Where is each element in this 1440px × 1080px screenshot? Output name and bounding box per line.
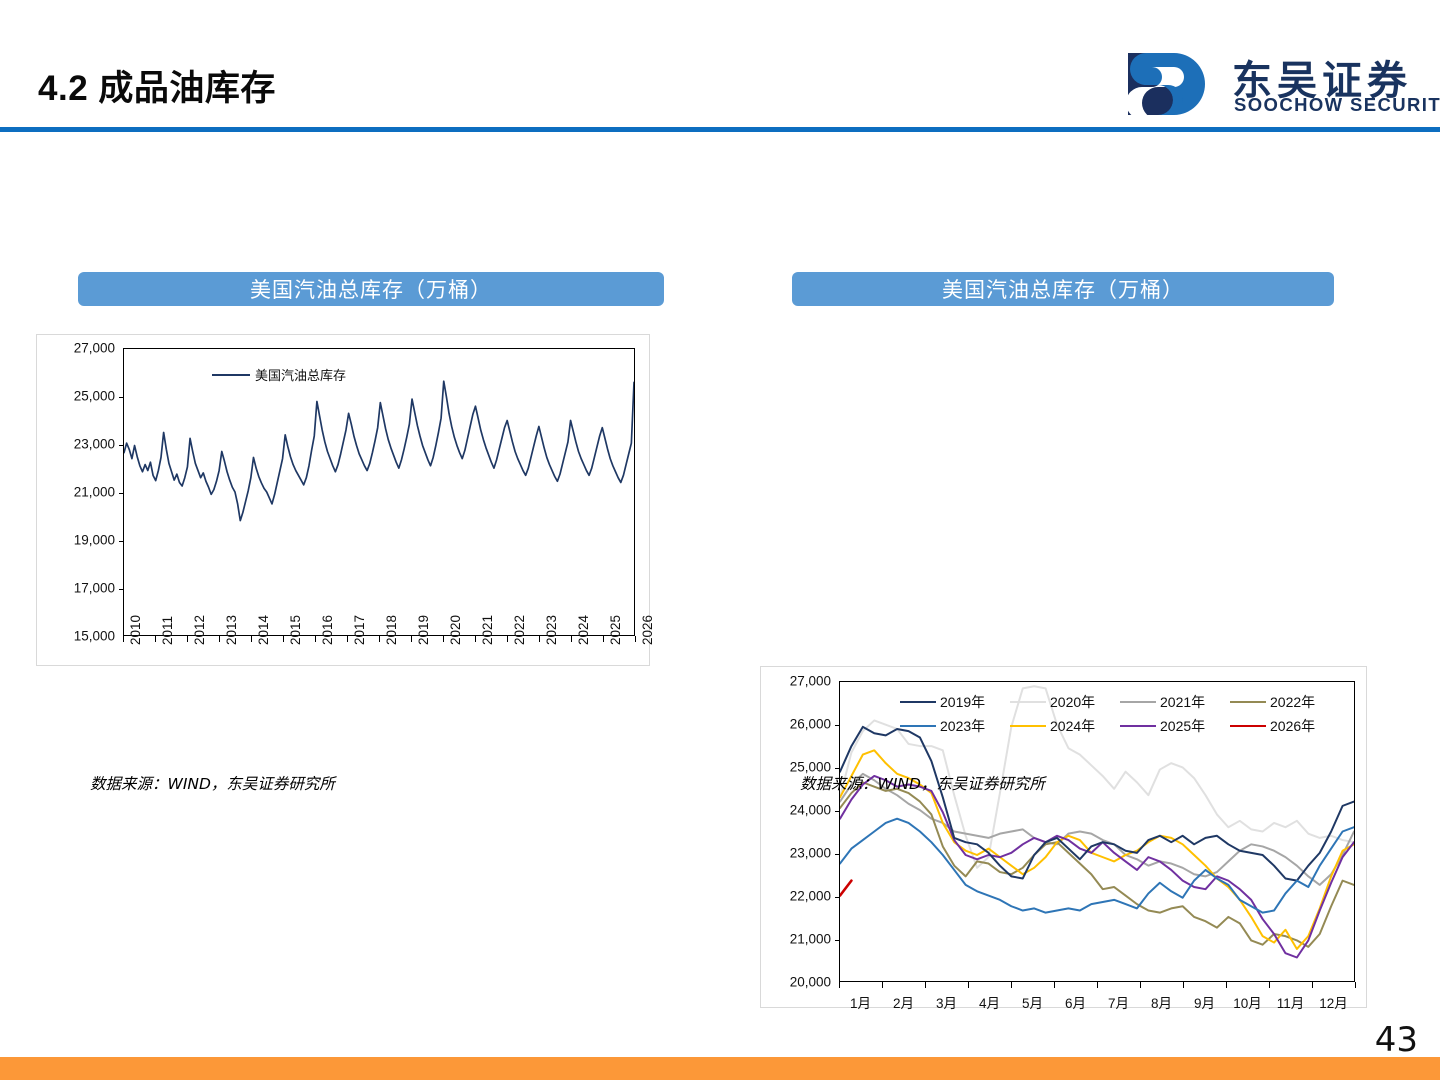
legend-label-2023年: 2023年	[940, 716, 985, 736]
right-ytick-mark	[835, 768, 840, 769]
left-chart-title: 美国汽油总库存（万桶）	[78, 272, 664, 306]
left-ytick-mark	[119, 589, 124, 590]
right-xtick-mark	[1054, 982, 1055, 988]
left-xtick-mark	[571, 636, 572, 642]
right-chart-title: 美国汽油总库存（万桶）	[792, 272, 1334, 306]
right-chart: 27,000 26,000 25,000 24,000 23,000 22,00…	[760, 666, 1367, 1008]
left-xtick-label: 2012	[192, 615, 207, 645]
legend-item-2026年: 2026年	[1230, 716, 1340, 736]
left-xtick-label: 2011	[160, 616, 175, 645]
left-xtick-label: 2016	[320, 615, 335, 645]
legend-swatch-2019年	[900, 701, 936, 703]
legend-swatch-2024年	[1010, 725, 1046, 727]
left-chart-source: 数据来源：WIND，东吴证券研究所	[90, 772, 335, 794]
right-xtick-mark	[882, 982, 883, 988]
right-xtick-label: 9月	[1183, 992, 1226, 1012]
left-xtick-mark	[443, 636, 444, 642]
left-xtick-label: 2024	[576, 615, 591, 645]
left-xtick-mark	[603, 636, 604, 642]
right-xtick-mark	[839, 982, 840, 988]
left-xtick-mark	[475, 636, 476, 642]
left-ytick-25000: 25,000	[37, 389, 115, 404]
left-xtick-label: 2020	[448, 615, 463, 645]
left-xtick-mark	[347, 636, 348, 642]
legend-label-2020年: 2020年	[1050, 692, 1095, 712]
right-xtick-label: 5月	[1011, 992, 1054, 1012]
legend-item-2022年: 2022年	[1230, 692, 1340, 712]
left-ytick-mark	[119, 397, 124, 398]
left-xtick-label: 2023	[544, 615, 559, 645]
right-xtick-label: 3月	[925, 992, 968, 1012]
legend-swatch-2021年	[1120, 701, 1156, 703]
right-xtick-mark	[1097, 982, 1098, 988]
footer-bar	[0, 1057, 1440, 1080]
right-ytick-mark	[835, 897, 840, 898]
legend-label-2021年: 2021年	[1160, 692, 1205, 712]
right-ytick-22000: 22,000	[761, 889, 831, 904]
left-xtick-label: 2022	[512, 615, 527, 645]
legend-swatch-2022年	[1230, 701, 1266, 703]
right-xtick-label: 8月	[1140, 992, 1183, 1012]
left-xtick-mark	[251, 636, 252, 642]
right-xtick-label: 4月	[968, 992, 1011, 1012]
right-xtick-mark	[1269, 982, 1270, 988]
left-xtick-label: 2015	[288, 615, 303, 645]
left-plot-area: 美国汽油总库存	[123, 348, 635, 636]
page-number: 43	[1375, 1020, 1418, 1060]
legend-swatch-2020年	[1010, 701, 1046, 703]
left-xtick-label: 2026	[640, 615, 655, 645]
left-xtick-mark	[315, 636, 316, 642]
left-xtick-mark	[539, 636, 540, 642]
right-xtick-mark	[1140, 982, 1141, 988]
slide-header: 4.2 成品油库存 东吴证券 SOOCHOW SECURITIES	[0, 0, 1440, 131]
right-ytick-23000: 23,000	[761, 846, 831, 861]
left-xtick-mark	[123, 636, 124, 642]
left-xtick-mark	[187, 636, 188, 642]
left-xtick-mark	[155, 636, 156, 642]
left-xtick-label: 2021	[480, 615, 495, 645]
right-ytick-mark	[835, 725, 840, 726]
legend-item-2025年: 2025年	[1120, 716, 1230, 736]
header-divider	[0, 127, 1440, 132]
right-xtick-mark	[1226, 982, 1227, 988]
legend-label-2019年: 2019年	[940, 692, 985, 712]
left-xtick-label: 2018	[384, 615, 399, 645]
right-xtick-mark	[925, 982, 926, 988]
left-ytick-mark	[119, 445, 124, 446]
right-ytick-21000: 21,000	[761, 932, 831, 947]
right-ytick-mark	[835, 811, 840, 812]
right-xtick-mark	[1183, 982, 1184, 988]
right-xtick-label: 2月	[882, 992, 925, 1012]
legend-swatch-line	[212, 374, 250, 376]
left-xtick-label: 2013	[224, 615, 239, 645]
right-xtick-mark	[1011, 982, 1012, 988]
right-xtick-mark	[1355, 982, 1356, 988]
legend-swatch-2025年	[1120, 725, 1156, 727]
left-xtick-label: 2014	[256, 615, 271, 645]
right-ytick-27000: 27,000	[761, 674, 831, 689]
left-ytick-21000: 21,000	[37, 485, 115, 500]
legend-swatch-2023年	[900, 725, 936, 727]
left-ytick-17000: 17,000	[37, 581, 115, 596]
right-xtick-label: 6月	[1054, 992, 1097, 1012]
left-xtick-label: 2019	[416, 615, 431, 645]
left-series-path	[124, 349, 634, 635]
right-xtick-mark	[1312, 982, 1313, 988]
legend-label-us-gasoline: 美国汽油总库存	[255, 365, 346, 384]
right-xtick-label: 12月	[1312, 992, 1355, 1012]
legend-label-2024年: 2024年	[1050, 716, 1095, 736]
left-chart-panel: 美国汽油总库存（万桶）	[78, 272, 664, 306]
left-xtick-mark	[507, 636, 508, 642]
right-plot-area: 2019年2020年2021年2022年2023年2024年2025年2026年	[839, 681, 1355, 982]
left-ytick-15000: 15,000	[37, 629, 115, 644]
right-xtick-label: 7月	[1097, 992, 1140, 1012]
right-chart-legend: 2019年2020年2021年2022年2023年2024年2025年2026年	[900, 692, 1340, 736]
legend-item-2020年: 2020年	[1010, 692, 1120, 712]
right-ytick-20000: 20,000	[761, 975, 831, 990]
right-ytick-mark	[835, 940, 840, 941]
legend-item-2019年: 2019年	[900, 692, 1010, 712]
left-xtick-mark	[635, 636, 636, 642]
soochow-logo-icon	[1128, 53, 1220, 115]
right-xtick-label: 1月	[839, 992, 882, 1012]
logo-english-name: SOOCHOW SECURITIES	[1234, 94, 1440, 116]
left-ytick-19000: 19,000	[37, 533, 115, 548]
left-xtick-label: 2010	[128, 615, 143, 645]
legend-label-2022年: 2022年	[1270, 692, 1315, 712]
left-xtick-mark	[283, 636, 284, 642]
left-xtick-mark	[379, 636, 380, 642]
right-xtick-mark	[968, 982, 969, 988]
right-chart-source: 数据来源：WIND，东吴证券研究所	[800, 772, 1045, 794]
slide: 4.2 成品油库存 东吴证券 SOOCHOW SECURITIES 美国汽油总库…	[0, 0, 1440, 1080]
left-ytick-mark	[119, 493, 124, 494]
company-logo: 东吴证券 SOOCHOW SECURITIES	[1128, 50, 1413, 118]
legend-swatch-2026年	[1230, 725, 1266, 727]
right-ytick-mark	[835, 854, 840, 855]
right-ytick-26000: 26,000	[761, 717, 831, 732]
right-ytick-24000: 24,000	[761, 803, 831, 818]
left-xtick-label: 2017	[352, 615, 367, 645]
left-xtick-mark	[219, 636, 220, 642]
legend-label-2025年: 2025年	[1160, 716, 1205, 736]
page-title: 4.2 成品油库存	[38, 60, 276, 111]
left-xtick-label: 2025	[608, 615, 623, 645]
left-ytick-mark	[119, 541, 124, 542]
left-chart: 27,000 25,000 23,000 21,000 19,000 17,00…	[36, 334, 650, 666]
legend-item-2023年: 2023年	[900, 716, 1010, 736]
right-chart-panel: 美国汽油总库存（万桶）	[792, 272, 1334, 306]
right-xtick-label: 11月	[1269, 992, 1312, 1012]
left-xtick-mark	[411, 636, 412, 642]
left-ytick-23000: 23,000	[37, 437, 115, 452]
legend-label-2026年: 2026年	[1270, 716, 1315, 736]
legend-item-2021年: 2021年	[1120, 692, 1230, 712]
right-xtick-label: 10月	[1226, 992, 1269, 1012]
left-ytick-27000: 27,000	[37, 341, 115, 356]
left-chart-legend: 美国汽油总库存	[212, 365, 346, 384]
legend-item-2024年: 2024年	[1010, 716, 1120, 736]
